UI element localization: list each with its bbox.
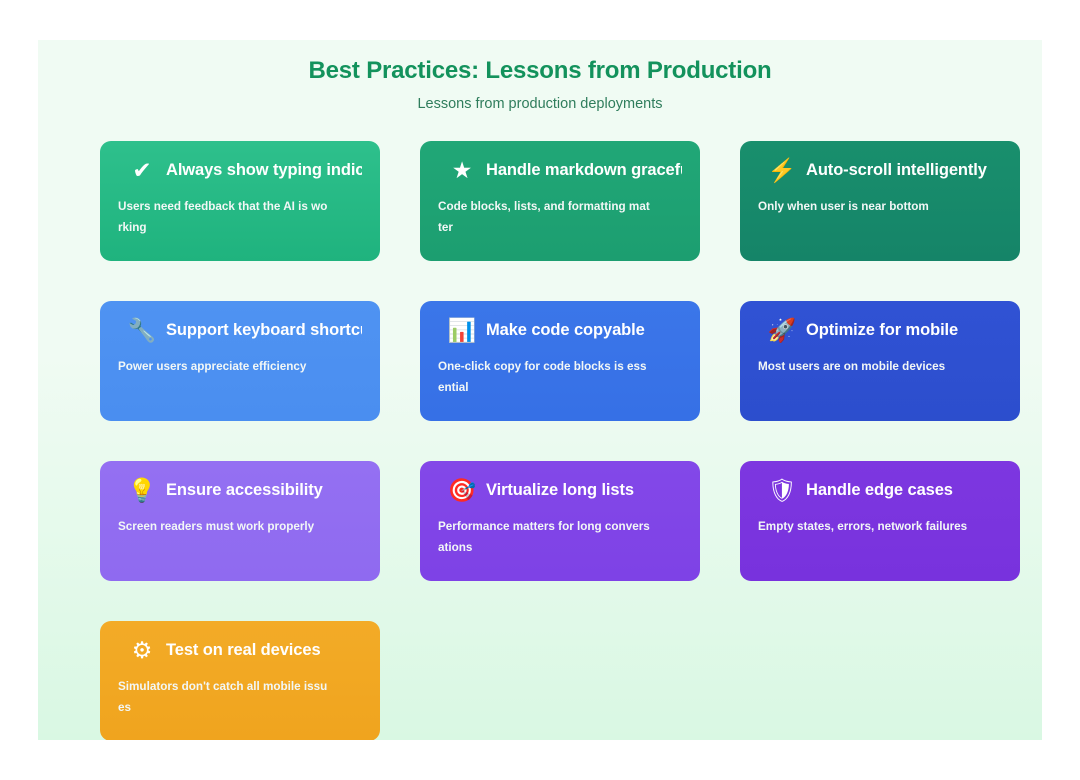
practice-card[interactable]: 📊Make code copyableOne-click copy for co…	[420, 301, 700, 421]
check-mark-icon: ✔	[127, 155, 157, 185]
practice-card-title: Test on real devices	[166, 635, 321, 665]
practice-card-header: 📊Make code copyable	[438, 315, 682, 345]
practice-card-title: Auto-scroll intelligently	[806, 155, 987, 185]
practice-card-description: Power users appreciate efficiency	[118, 356, 330, 377]
gear-icon: ⚙	[127, 635, 157, 665]
practice-card-header: 🔧Support keyboard shortcut	[118, 315, 362, 345]
screen-root: Best Practices: Lessons from Production …	[0, 0, 1080, 780]
star-icon: ★	[447, 155, 477, 185]
practice-card-description: Screen readers must work properly	[118, 516, 330, 537]
light-bulb-icon: 💡	[127, 475, 157, 505]
practice-card-header: ★Handle markdown gracefull	[438, 155, 682, 185]
practice-card-description: One-click copy for code blocks is essent…	[438, 356, 650, 398]
practice-card[interactable]: ★Handle markdown gracefullCode blocks, l…	[420, 141, 700, 261]
practice-card-title: Virtualize long lists	[486, 475, 634, 505]
practice-card-header: 🚀Optimize for mobile	[758, 315, 1002, 345]
dart-target-icon: 🎯	[447, 475, 477, 505]
practice-card-header: ⚙Test on real devices	[118, 635, 362, 665]
practice-card[interactable]: ✔Always show typing indicaUsers need fee…	[100, 141, 380, 261]
practice-card-title: Handle markdown gracefull	[486, 155, 682, 185]
practice-card[interactable]: 💡Ensure accessibilityScreen readers must…	[100, 461, 380, 581]
practice-card-title: Always show typing indica	[166, 155, 362, 185]
practice-card-title: Make code copyable	[486, 315, 645, 345]
practice-card-description: Performance matters for long conversatio…	[438, 516, 650, 558]
practice-card-header: ⚡Auto-scroll intelligently	[758, 155, 1002, 185]
practice-card[interactable]: 🛡Handle edge casesEmpty states, errors, …	[740, 461, 1020, 581]
practice-card-description: Only when user is near bottom	[758, 196, 970, 217]
practice-card-header: ✔Always show typing indica	[118, 155, 362, 185]
practice-card[interactable]: ⚡Auto-scroll intelligentlyOnly when user…	[740, 141, 1020, 261]
page-title: Best Practices: Lessons from Production	[38, 56, 1042, 86]
practice-card-description: Users need feedback that the AI is worki…	[118, 196, 330, 238]
practice-card-description: Simulators don't catch all mobile issues	[118, 676, 330, 718]
best-practices-panel: Best Practices: Lessons from Production …	[38, 40, 1042, 740]
lightning-bolt-icon: ⚡	[767, 155, 797, 185]
practice-card[interactable]: 🔧Support keyboard shortcutPower users ap…	[100, 301, 380, 421]
practice-card-title: Optimize for mobile	[806, 315, 958, 345]
panel-header: Best Practices: Lessons from Production …	[38, 40, 1042, 113]
practice-card-title: Ensure accessibility	[166, 475, 323, 505]
practice-card-title: Support keyboard shortcut	[166, 315, 362, 345]
best-practices-card-grid: ✔Always show typing indicaUsers need fee…	[100, 141, 1020, 740]
practice-card-title: Handle edge cases	[806, 475, 953, 505]
practice-card-description: Empty states, errors, network failures	[758, 516, 970, 537]
practice-card[interactable]: 🚀Optimize for mobileMost users are on mo…	[740, 301, 1020, 421]
practice-card-header: 💡Ensure accessibility	[118, 475, 362, 505]
bar-chart-icon: 📊	[447, 315, 477, 345]
practice-card-header: 🛡Handle edge cases	[758, 475, 1002, 505]
practice-card-header: 🎯Virtualize long lists	[438, 475, 682, 505]
wrench-icon: 🔧	[127, 315, 157, 345]
shield-icon: 🛡	[767, 475, 797, 505]
page-subtitle: Lessons from production deployments	[38, 95, 1042, 113]
practice-card-description: Most users are on mobile devices	[758, 356, 970, 377]
practice-card[interactable]: 🎯Virtualize long listsPerformance matter…	[420, 461, 700, 581]
practice-card-description: Code blocks, lists, and formatting matte…	[438, 196, 650, 238]
practice-card[interactable]: ⚙Test on real devicesSimulators don't ca…	[100, 621, 380, 740]
rocket-icon: 🚀	[767, 315, 797, 345]
